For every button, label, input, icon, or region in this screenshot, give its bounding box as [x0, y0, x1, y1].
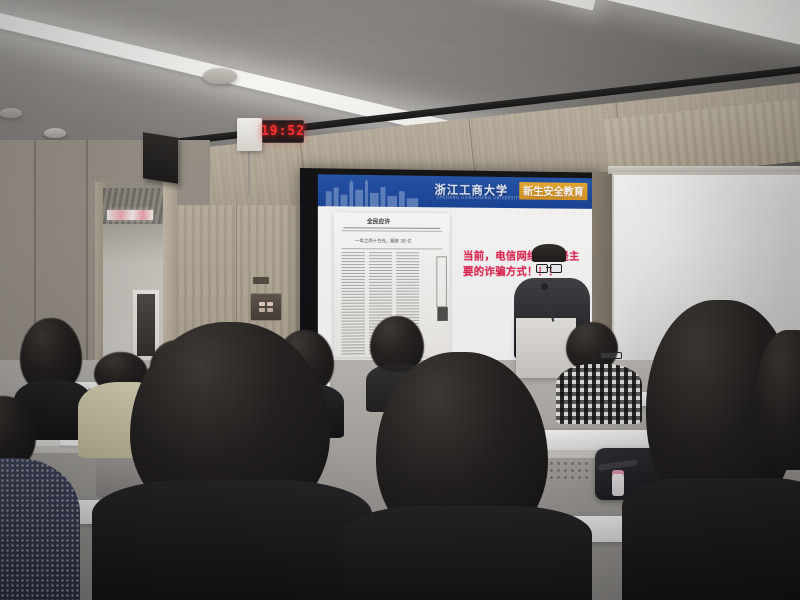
led-wall-clock: 19:52 — [262, 120, 304, 143]
control-button[interactable] — [259, 302, 265, 306]
newspaper-header — [343, 220, 440, 229]
wifi-access-point-icon — [237, 118, 262, 151]
newspaper-sidebar-box — [436, 256, 446, 307]
lecture-hall-photo: 19:52 — [0, 0, 800, 600]
slide-title-banner: 浙江工商大学 ZHEJIANG GONGSHANG UNIVERSITY 新生安… — [318, 174, 598, 209]
corridor-sign — [107, 210, 153, 220]
control-row — [253, 302, 279, 306]
newspaper-rule — [342, 248, 443, 249]
newspaper-masthead: 全民应许 — [367, 217, 390, 226]
student-torso — [622, 478, 800, 600]
smoke-detector-icon — [0, 108, 22, 118]
microphone-icon — [541, 283, 548, 290]
ap-mount-stem — [248, 150, 250, 196]
smoke-detector-icon — [44, 128, 66, 138]
student-hair — [566, 322, 618, 370]
glasses-icon — [536, 264, 562, 271]
newspaper-subhead: 一年之内十万元，期末 30 亿 — [355, 238, 411, 244]
wall-control-panel[interactable] — [250, 293, 282, 321]
control-button[interactable] — [267, 308, 273, 312]
presenter-hair — [532, 244, 566, 262]
wall-speaker-icon — [143, 132, 178, 184]
glasses-icon — [600, 352, 622, 359]
newspaper-black-block — [437, 307, 447, 321]
clock-time: 19:52 — [261, 125, 305, 138]
control-panel-label — [253, 277, 269, 284]
student-torso-black-coat — [92, 480, 372, 600]
city-skyline-icon — [322, 178, 429, 207]
smoke-detector-icon — [203, 68, 237, 84]
student-torso — [342, 506, 592, 600]
slide-callout-text: 当前，电信网络诈骗是主要的诈骗方式！！！ — [463, 249, 589, 280]
control-button[interactable] — [267, 302, 273, 306]
control-button[interactable] — [259, 308, 265, 312]
glasses-lens-left — [536, 264, 548, 273]
student-torso-plaid — [556, 364, 642, 424]
newspaper-column — [342, 252, 365, 355]
slide-session-tag: 新生安全教育 — [519, 182, 587, 200]
picture-art — [137, 294, 155, 356]
slide-university-pinyin: ZHEJIANG GONGSHANG UNIVERSITY — [436, 195, 521, 201]
water-bottle — [612, 474, 624, 496]
control-row — [253, 308, 279, 312]
newspaper-rule — [342, 230, 443, 232]
glasses-lens-right — [550, 264, 562, 273]
